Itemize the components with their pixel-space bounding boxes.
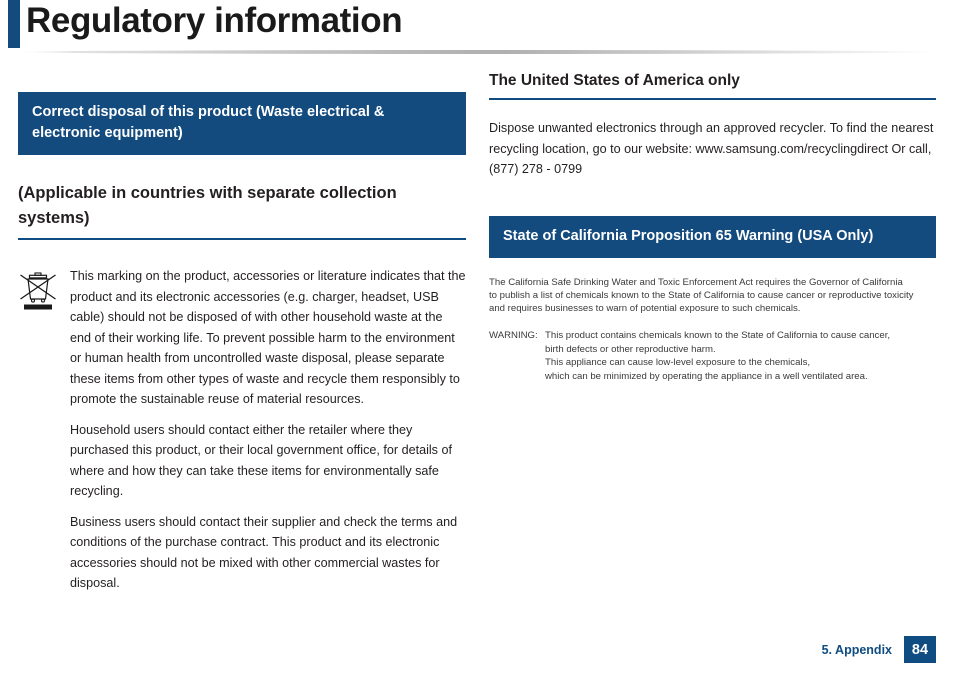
prop65-body: The California Safe Drinking Water and T… bbox=[489, 276, 936, 384]
header-divider bbox=[20, 50, 940, 54]
page-number-badge: 84 bbox=[904, 636, 936, 663]
prop65-intro-line-3: and requires businesses to warn of poten… bbox=[489, 302, 936, 315]
crossed-out-wheelie-bin-icon bbox=[18, 266, 58, 316]
prop65-warning-label: WARNING: bbox=[489, 329, 545, 343]
usa-paragraph: Dispose unwanted electronics through an … bbox=[489, 118, 936, 180]
prop65-intro-line-1: The California Safe Drinking Water and T… bbox=[489, 276, 936, 289]
weee-paragraph-1: This marking on the product, accessories… bbox=[70, 266, 466, 410]
subheading-applicable-countries: (Applicable in countries with separate c… bbox=[18, 181, 466, 240]
page-header: Regulatory information bbox=[0, 0, 954, 56]
page-footer: 5. Appendix 84 bbox=[822, 636, 936, 663]
weee-paragraph-3: Business users should contact their supp… bbox=[70, 512, 466, 594]
title-accent-bar bbox=[8, 0, 20, 48]
page-title: Regulatory information bbox=[26, 0, 402, 44]
prop65-warning-lines: This product contains chemicals known to… bbox=[545, 329, 936, 383]
right-column: The United States of America only Dispos… bbox=[489, 70, 936, 383]
heading-usa-only: The United States of America only bbox=[489, 70, 936, 100]
prop65-warning-line-4: which can be minimized by operating the … bbox=[545, 370, 936, 384]
section-header-prop65: State of California Proposition 65 Warni… bbox=[489, 216, 936, 258]
prop65-intro-line-2: to publish a list of chemicals known to … bbox=[489, 289, 936, 302]
weee-block: This marking on the product, accessories… bbox=[18, 266, 466, 594]
section-header-correct-disposal: Correct disposal of this product (Waste … bbox=[18, 92, 466, 155]
prop65-intro: The California Safe Drinking Water and T… bbox=[489, 276, 936, 316]
prop65-warning-line-1: This product contains chemicals known to… bbox=[545, 329, 936, 343]
weee-text: This marking on the product, accessories… bbox=[70, 266, 466, 594]
footer-section-label: 5. Appendix bbox=[822, 643, 892, 657]
prop65-warning-line-2: birth defects or other reproductive harm… bbox=[545, 343, 936, 357]
prop65-warning-line-3: This appliance can cause low-level expos… bbox=[545, 356, 936, 370]
weee-paragraph-2: Household users should contact either th… bbox=[70, 420, 466, 502]
left-column: Correct disposal of this product (Waste … bbox=[18, 92, 466, 594]
prop65-warning-block: WARNING: This product contains chemicals… bbox=[489, 329, 936, 383]
